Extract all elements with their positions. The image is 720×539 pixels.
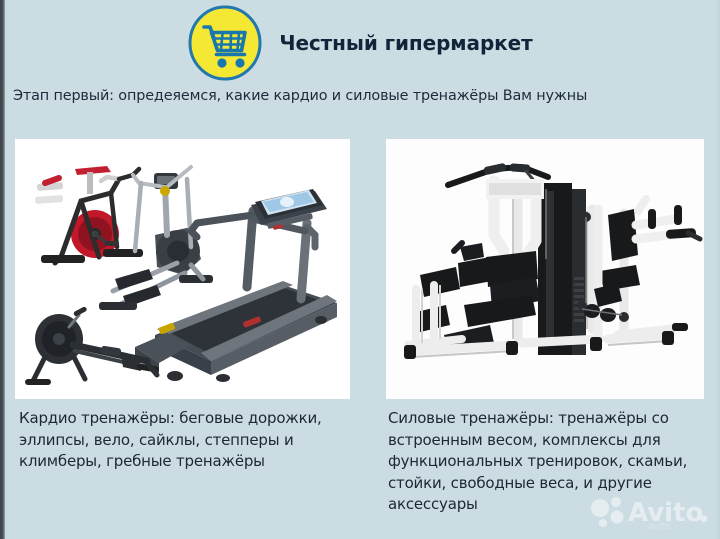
cardio-equipment-image <box>15 139 350 399</box>
avito-watermark: Avito avito <box>586 493 712 533</box>
strength-photo-card <box>386 139 704 399</box>
cardio-photo-card <box>15 139 350 399</box>
photo-row <box>0 139 720 401</box>
subtitle-text: Этап первый: опредеяемся, какие кардио и… <box>13 86 703 106</box>
page-title: Честный гипермаркет <box>279 31 532 55</box>
header: Честный гипермаркет <box>0 4 720 82</box>
avito-dots-icon: Avito avito <box>586 493 712 533</box>
cardio-caption: Кардио тренажёры: беговые дорожки, эллип… <box>19 408 344 473</box>
shopping-cart-icon <box>187 5 263 81</box>
strength-equipment-image <box>386 139 704 399</box>
slide-root: Честный гипермаркет Этап первый: опредея… <box>0 0 720 539</box>
svg-text:avito: avito <box>648 522 671 532</box>
